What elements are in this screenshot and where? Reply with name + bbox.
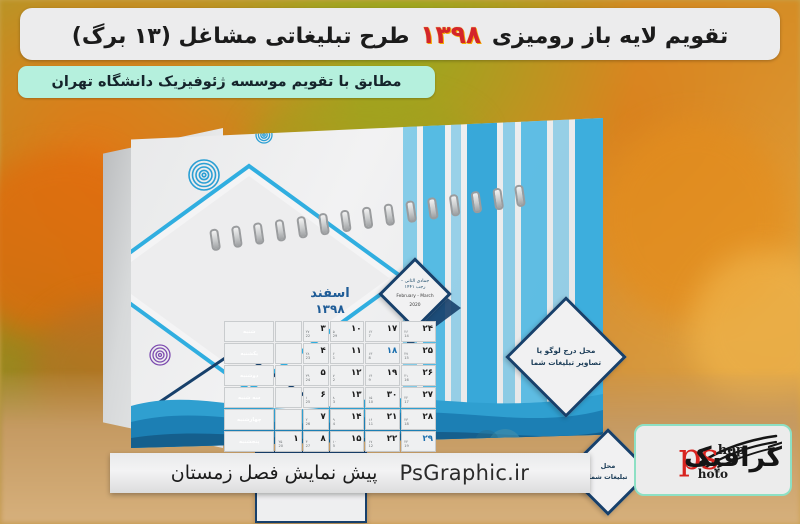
day-name-weekday: یکشنبه	[224, 343, 274, 364]
ad2-line-1: محل	[601, 461, 616, 472]
calendar-cell[interactable]: ۲۴۲۶14	[401, 321, 436, 342]
day-number-secondary: ۲۳18	[404, 417, 409, 427]
calendar-cell[interactable]: ۲۹۲۴19	[401, 431, 436, 452]
calendar-cell[interactable]: ۵۲۹24	[303, 365, 329, 386]
calendar-cell[interactable]: ۲۷۲۲17	[401, 387, 436, 408]
ad1-line-2: تصاویر تبلیغات شما	[531, 357, 601, 369]
calendar-cell[interactable]: ۲۸۲۳18	[401, 409, 436, 430]
day-number-persian: ۱۷	[387, 322, 398, 336]
title-suffix: طرح تبلیغاتی مشاغل (۱۳ برگ)	[72, 24, 410, 49]
day-number-persian: ۶	[320, 388, 325, 402]
swirl-icon	[255, 126, 273, 144]
day-number-persian: ۸	[320, 432, 325, 446]
day-number-secondary: ۱۷12	[368, 439, 373, 449]
day-number-secondary: ۱25	[306, 395, 311, 405]
spiral-ring	[449, 194, 461, 217]
day-number-secondary: ۲۵20	[278, 439, 283, 449]
day-number-persian: ۲۶	[423, 366, 434, 380]
day-number-secondary: ۶1	[333, 351, 335, 361]
day-number-secondary: ۱۲7	[368, 329, 372, 339]
day-name-weekday: چهارشنبه	[224, 409, 274, 430]
day-name-weekday: پنجشنبه	[224, 431, 274, 452]
day-number-secondary: ۲۴19	[404, 439, 409, 449]
calendar-cell[interactable]: ۸۳27	[303, 431, 329, 452]
calendar-cell[interactable]: ۱۰۵29	[330, 321, 365, 342]
day-number-persian: ۲۵	[423, 344, 434, 358]
calendar-cell[interactable]: ۱۲۷2	[330, 365, 365, 386]
day-number-secondary: ۵29	[333, 329, 338, 339]
spiral-ring	[253, 222, 265, 245]
calendar-cell[interactable]: ۱۲۵20	[275, 431, 301, 452]
calendar-grid: اسفند ۱۳۹۸ ۲۴۲۶14۱۷۱۲7۱۰۵29۳۲۷22شنبه۲۵۲۷…	[223, 286, 437, 446]
calendar-row: ۲۵۲۷15۱۸۱۳8۱۱۶1۴۲۸23یکشنبه	[224, 343, 436, 364]
day-number-persian: ۱۳	[351, 388, 362, 402]
subtitle-text: مطابق با تقویم موسسه ژئوفیزیک دانشگاه ته…	[52, 74, 402, 90]
calendar-cell-empty	[275, 343, 301, 364]
spiral-ring	[492, 187, 504, 210]
calendar-row: ۲۷۲۲17۳۰۱۵10۱۳۸3۶۱25سه شنبه	[224, 387, 436, 408]
day-number-secondary: ۸3	[333, 395, 335, 405]
day-number-secondary: ۱۶11	[368, 417, 373, 427]
brand-logo[interactable]: ps hop hoto گرافیک	[634, 424, 792, 496]
title-year: ۱۳۹۸	[417, 20, 484, 49]
day-number-secondary: ۲۷15	[404, 351, 409, 361]
day-number-secondary: ۳27	[306, 439, 311, 449]
day-number-persian: ۲۸	[423, 410, 434, 424]
calendar-cell[interactable]: ۱۴۹4	[330, 409, 365, 430]
day-number-persian: ۱۴	[351, 410, 362, 424]
spiral-ring	[514, 184, 526, 207]
calendar-row: ۲۹۲۴19۲۲۱۷12۱۵۱۰5۸۳27۱۲۵20پنجشنبه	[224, 431, 436, 452]
day-number-secondary: ۲۶14	[404, 329, 409, 339]
calendar-cell[interactable]: ۶۱25	[303, 387, 329, 408]
day-number-secondary: ۲26	[306, 417, 311, 427]
calendar-table: ۲۴۲۶14۱۷۱۲7۱۰۵29۳۲۷22شنبه۲۵۲۷15۱۸۱۳8۱۱۶1…	[223, 320, 437, 475]
calendar-cell[interactable]: ۲۲۱۷12	[365, 431, 400, 452]
calendar-cell[interactable]: ۱۷۱۲7	[365, 321, 400, 342]
calendar-cell[interactable]: ۱۸۱۳8	[365, 343, 400, 364]
day-number-persian: ۲۹	[423, 432, 434, 446]
day-name-weekday: دوشنبه	[224, 365, 274, 386]
calendar-row: ۲۴۲۶14۱۷۱۲7۱۰۵29۳۲۷22شنبه	[224, 321, 436, 342]
calendar-cell[interactable]: ۲۵۲۷15	[401, 343, 436, 364]
month-year: ۱۳۹۸	[223, 302, 437, 317]
day-number-secondary: ۹4	[333, 417, 335, 427]
calendar-cell[interactable]: ۱۹۱۴9	[365, 365, 400, 386]
spiral-ring	[383, 203, 395, 226]
day-number-persian: ۲۴	[423, 322, 434, 336]
day-number-secondary: ۱۴9	[368, 373, 372, 383]
spiral-ring	[362, 206, 374, 229]
day-number-persian: ۱	[293, 432, 298, 446]
day-number-secondary: ۱۳8	[368, 351, 372, 361]
day-number-persian: ۱۱	[351, 344, 362, 358]
day-number-persian: ۱۹	[387, 366, 398, 380]
ad1-line-1: محل درج لوگو یا	[537, 345, 596, 357]
swirl-icon	[149, 344, 171, 366]
day-number-persian: ۵	[320, 366, 325, 380]
day-number-secondary: ۱۰5	[333, 439, 337, 449]
day-name-weekday: شنبه	[224, 321, 274, 342]
day-number-secondary: ۲۹24	[306, 373, 311, 383]
spiral-ring	[427, 197, 439, 220]
day-number-persian: ۱۰	[351, 322, 362, 336]
calendar-row: ۲۶۲۱16۱۹۱۴9۱۲۷2۵۲۹24دوشنبه	[224, 365, 436, 386]
calendar-cell[interactable]: ۱۱۶1	[330, 343, 365, 364]
swirl-icon	[187, 158, 221, 192]
day-number-persian: ۳	[320, 322, 325, 336]
day-number-persian: ۴	[320, 344, 325, 358]
calendar-cell-empty	[275, 365, 301, 386]
ad2-line-2: تبلیغات شما	[588, 472, 627, 483]
subtitle-banner: مطابق با تقویم موسسه ژئوفیزیک دانشگاه ته…	[18, 66, 435, 98]
spiral-ring	[296, 216, 308, 239]
day-number-persian: ۲۷	[423, 388, 434, 402]
calendar-cell[interactable]: ۷۲26	[303, 409, 329, 430]
tree-illustration	[429, 418, 579, 448]
day-number-secondary: ۱۵10	[368, 395, 373, 405]
day-number-secondary: ۲۲17	[404, 395, 409, 405]
calendar-cell[interactable]: ۱۳۸3	[330, 387, 365, 408]
spiral-ring	[405, 200, 417, 223]
day-number-secondary: ۷2	[333, 373, 335, 383]
month-name: اسفند	[310, 286, 349, 301]
day-number-persian: ۲۱	[387, 410, 398, 424]
day-number-secondary: ۲۱16	[404, 373, 409, 383]
spiral-ring	[231, 225, 243, 248]
day-number-secondary: ۲۷22	[306, 329, 311, 339]
calendar-cell[interactable]: ۳۰۱۵10	[365, 387, 400, 408]
calendar-row: ۲۸۲۳18۲۱۱۶11۱۴۹4۷۲26چهارشنبه	[224, 409, 436, 430]
day-number-persian: ۱۸	[387, 344, 398, 358]
day-number-persian: ۳۰	[387, 388, 398, 402]
title-prefix: تقویم لایه باز رومیزی	[492, 24, 728, 49]
caption-text: پیش نمایش فصل زمستان	[171, 462, 378, 484]
spiral-ring	[318, 213, 330, 236]
desk-calendar: جمادی الثانی – رجب ۱۴۴۱ February - March…	[103, 118, 603, 448]
spiral-ring	[470, 191, 482, 214]
title-banner: تقویم لایه باز رومیزی ۱۳۹۸ طرح تبلیغاتی …	[20, 8, 780, 60]
calendar-cell-empty	[275, 387, 301, 408]
day-number-persian: ۲۲	[387, 432, 398, 446]
calendar-cell[interactable]: ۳۲۷22	[303, 321, 329, 342]
calendar-cell-empty	[275, 321, 301, 342]
site-name: PsGraphic.ir	[399, 461, 529, 485]
calendar-cell-empty	[275, 409, 301, 430]
calendar-cell[interactable]: ۴۲۸23	[303, 343, 329, 364]
calendar-cell[interactable]: ۲۶۲۱16	[401, 365, 436, 386]
spiral-ring	[209, 228, 221, 251]
day-number-secondary: ۲۸23	[306, 351, 311, 361]
calendar-cell[interactable]: ۲۱۱۶11	[365, 409, 400, 430]
calendar-cell[interactable]: ۱۵۱۰5	[330, 431, 365, 452]
spiral-ring	[274, 219, 286, 242]
day-number-persian: ۱۲	[351, 366, 362, 380]
day-name-weekday: سه شنبه	[224, 387, 274, 408]
caption-bar: PsGraphic.ir پیش نمایش فصل زمستان	[110, 453, 590, 493]
page-title: تقویم لایه باز رومیزی ۱۳۹۸ طرح تبلیغاتی …	[72, 20, 728, 49]
day-number-persian: ۱۵	[351, 432, 362, 446]
spiral-ring	[340, 209, 352, 232]
day-number-persian: ۷	[320, 410, 325, 424]
logo-persian-text: گرافیک	[684, 442, 782, 473]
screenshot-stage: تقویم لایه باز رومیزی ۱۳۹۸ طرح تبلیغاتی …	[0, 0, 800, 524]
month-heading: اسفند ۱۳۹۸	[223, 286, 437, 317]
